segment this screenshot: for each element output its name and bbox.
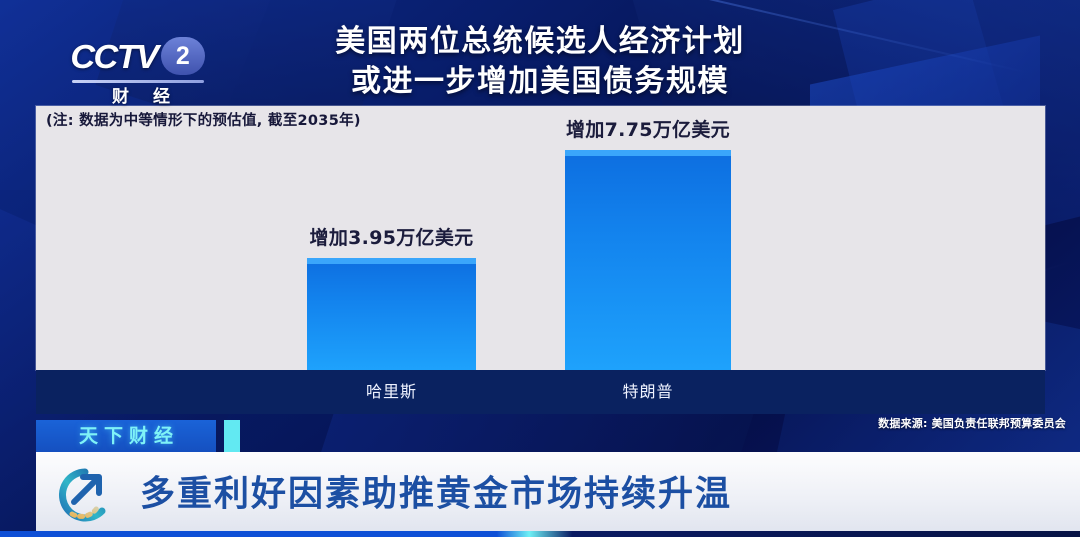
chart-category-axis: 哈里斯 特朗普	[36, 370, 1045, 414]
cctv-wordmark: CCTV	[70, 40, 157, 73]
circular-growth-arrow-icon	[52, 462, 118, 528]
logo-row: CCTV 2	[66, 34, 216, 78]
bar-harris	[307, 258, 476, 370]
bar-value-label: 增加7.75万亿美元	[566, 121, 730, 140]
program-tag-accent-bar	[224, 420, 240, 452]
bottom-accent-strip	[0, 531, 1080, 537]
bar-value-label: 增加3.95万亿美元	[310, 229, 474, 248]
logo-underline	[72, 80, 204, 83]
cctv2-channel-logo: CCTV 2 财 经	[66, 34, 216, 106]
bar-group-trump: 增加7.75万亿美元	[565, 150, 731, 370]
bar-top-cap	[565, 150, 731, 156]
program-tag: 天下财经	[36, 420, 216, 452]
channel-number-badge: 2	[161, 37, 205, 75]
axis-label-trump: 特朗普	[565, 370, 731, 414]
headline-bar: 多重利好因素助推黄金市场持续升温	[36, 452, 1080, 537]
lower-third-banner: 天下财经 多重利好因素助推黄金市场持续升温	[36, 420, 216, 452]
program-tag-label: 天下财经	[73, 427, 179, 446]
chart-source-attribution: 数据来源: 美国负责任联邦预算委员会	[878, 418, 1066, 429]
bar-chart-plot-area: 增加3.95万亿美元 增加7.75万亿美元	[36, 106, 1045, 370]
bar-trump	[565, 150, 731, 370]
channel-name-label: 财 经	[66, 86, 216, 108]
chart-panel: (注: 数据为中等情形下的预估值, 截至2035年) 增加3.95万亿美元 增加…	[36, 106, 1045, 370]
headline-text: 多重利好因素助推黄金市场持续升温	[140, 477, 732, 512]
bar-group-harris: 增加3.95万亿美元	[307, 258, 476, 370]
axis-label-harris: 哈里斯	[307, 370, 476, 414]
bar-top-cap	[307, 258, 476, 264]
